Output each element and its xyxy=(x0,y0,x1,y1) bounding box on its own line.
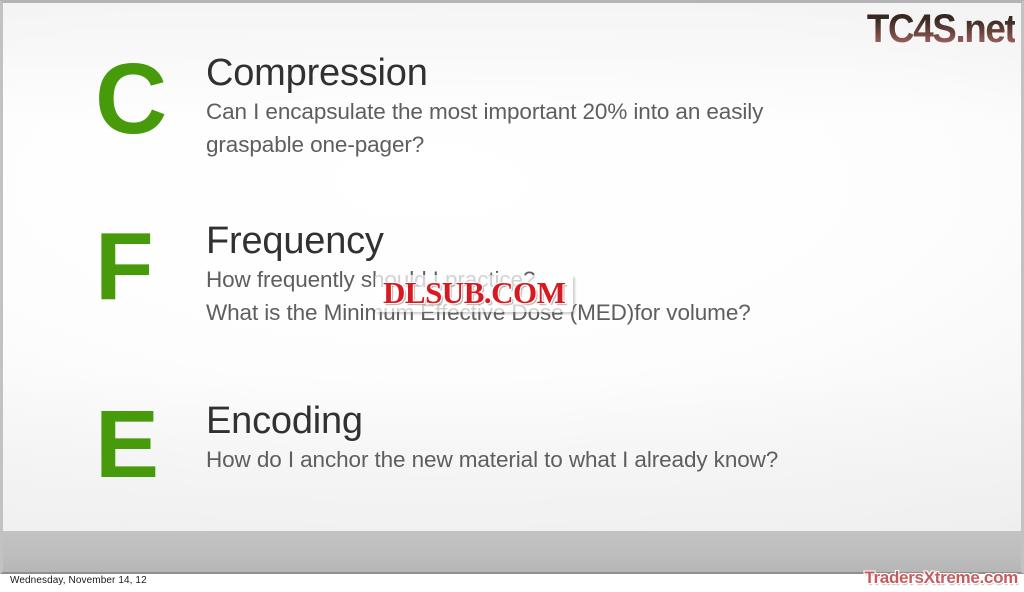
section-letter-f: F xyxy=(95,219,205,315)
section-text-line: How do I anchor the new material to what… xyxy=(206,443,1006,476)
section-title-frequency: Frequency xyxy=(206,219,1006,263)
dlsub-watermark: DLSUB.COM xyxy=(375,275,573,312)
section-text-frequency: How frequently should I practice? What i… xyxy=(206,263,1006,329)
section-text-encoding: How do I anchor the new material to what… xyxy=(206,443,1006,476)
section-text-line: How frequently should I practice? xyxy=(206,263,1006,296)
section-letter-e: E xyxy=(95,397,205,493)
tc4s-watermark: TC4S.net xyxy=(867,7,1015,51)
section-body-encoding: Encoding How do I anchor the new materia… xyxy=(206,399,1006,476)
section-body-frequency: Frequency How frequently should I practi… xyxy=(206,219,1006,329)
section-body-compression: Compression Can I encapsulate the most i… xyxy=(206,51,1006,161)
dlsub-watermark-text: DLSUB.COM xyxy=(383,277,565,309)
slide-canvas: C Compression Can I encapsulate the most… xyxy=(0,0,1024,531)
section-title-encoding: Encoding xyxy=(206,399,1006,443)
section-title-compression: Compression xyxy=(206,51,1006,95)
section-text-line: What is the Minimum Effective Dose (MED)… xyxy=(206,296,1006,329)
footer-date: Wednesday, November 14, 12 xyxy=(10,575,147,587)
section-text-line: Can I encapsulate the most important 20%… xyxy=(206,95,1006,128)
section-text-line: graspable one-pager? xyxy=(206,128,1006,161)
slide-frame: C Compression Can I encapsulate the most… xyxy=(0,0,1024,592)
section-letter-c: C xyxy=(95,49,205,149)
section-text-compression: Can I encapsulate the most important 20%… xyxy=(206,95,1006,161)
tradersxtreme-watermark: TradersXtreme.com xyxy=(864,568,1018,588)
